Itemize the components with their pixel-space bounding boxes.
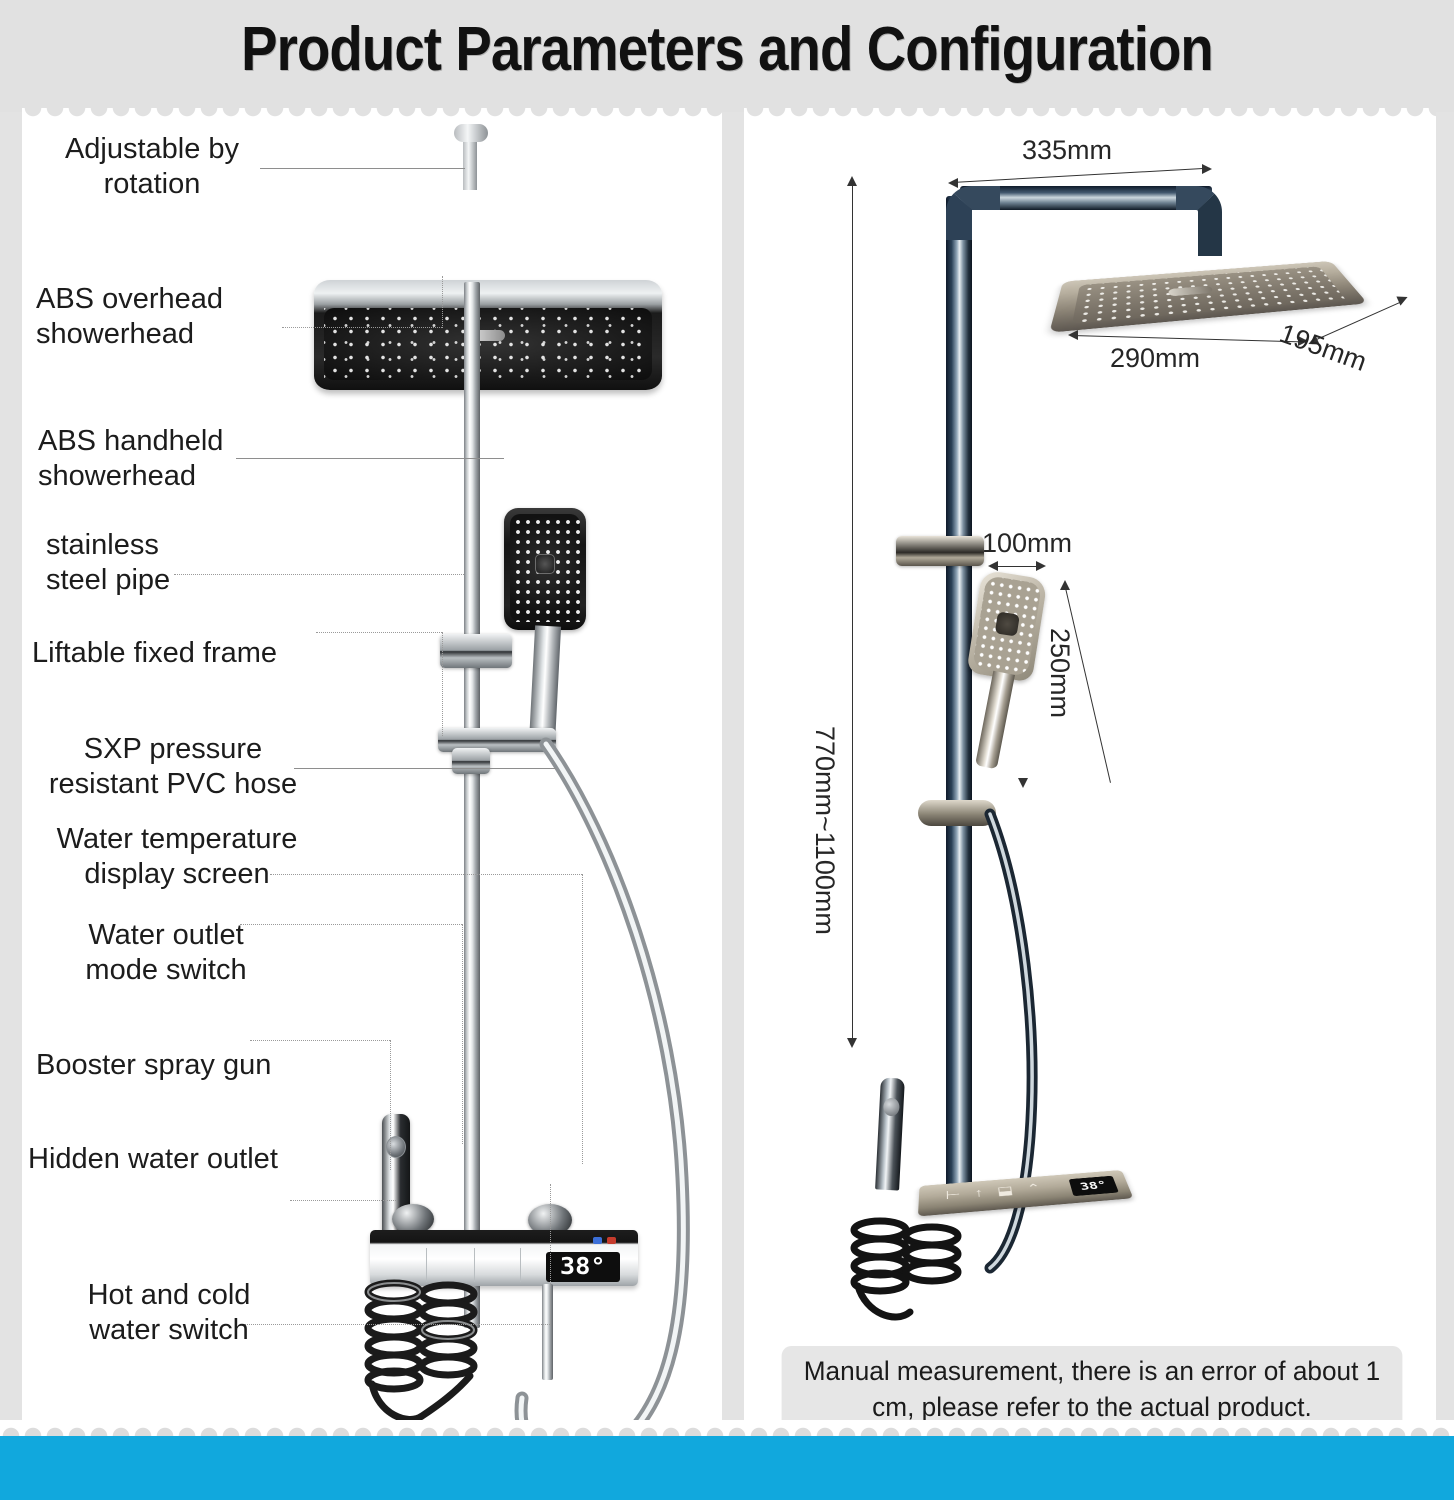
scallop-edge-bottom	[0, 1420, 1454, 1436]
right-elbow-right	[1176, 186, 1222, 256]
dimtext-overall-width: 335mm	[1022, 135, 1112, 166]
bottom-accent-band	[0, 1436, 1454, 1500]
dimarrow-handheld-length-top	[1060, 580, 1070, 590]
dimarrow-overall-width-right	[1202, 164, 1212, 174]
right-gun-trigger-button	[883, 1098, 900, 1117]
dimarrow-handheld-width-left	[988, 561, 998, 571]
right-temperature-display: 38°	[1069, 1176, 1119, 1196]
dimline-overall-height	[852, 184, 853, 1044]
right-shower-illustration: ⊢ ↑ ⬓ ⌃ 38°	[0, 0, 1454, 1500]
dimarrow-handheld-width-right	[1036, 561, 1046, 571]
handheld-shower-icon: ↑	[974, 1186, 984, 1200]
dimarrow-height-bottom	[847, 1038, 857, 1048]
right-booster-spray-gun	[875, 1077, 905, 1190]
right-temperature-value: 38°	[1078, 1179, 1108, 1193]
dimtext-handheld-length: 250mm	[1044, 628, 1075, 718]
dimline-handheld-width	[994, 566, 1040, 567]
spray-gun-icon: ⊢	[945, 1188, 960, 1203]
dimtext-overall-height: 770mm~1100mm	[809, 726, 840, 935]
waterfall-icon: ⌃	[1026, 1182, 1043, 1196]
overhead-shower-icon: ⬓	[996, 1184, 1014, 1199]
product-spec-diagram: Product Parameters and Configuration	[0, 0, 1454, 1500]
right-elbow-left	[946, 186, 1000, 240]
dimarrow-height-top	[847, 176, 857, 186]
right-mode-icon-group: ⊢ ↑ ⬓ ⌃	[945, 1182, 1042, 1203]
dimtext-head-width: 290mm	[1110, 343, 1200, 374]
right-liftable-fixed-frame	[896, 536, 984, 566]
right-overhead-showerhead	[1049, 261, 1367, 333]
right-handheld-showerhead	[966, 569, 1047, 682]
right-handheld-handle	[975, 671, 1015, 769]
right-handheld-hub	[995, 611, 1020, 636]
right-coiled-hose	[842, 1216, 972, 1336]
dimarrow-overall-width-left	[948, 178, 958, 188]
right-overhead-nozzles	[1072, 266, 1345, 324]
dimarrow-handheld-length-bottom	[1018, 778, 1028, 788]
right-overhead-face	[1072, 266, 1345, 324]
dimarrow-head-width-left	[1068, 330, 1078, 340]
dimtext-handheld-width: 100mm	[982, 528, 1072, 559]
